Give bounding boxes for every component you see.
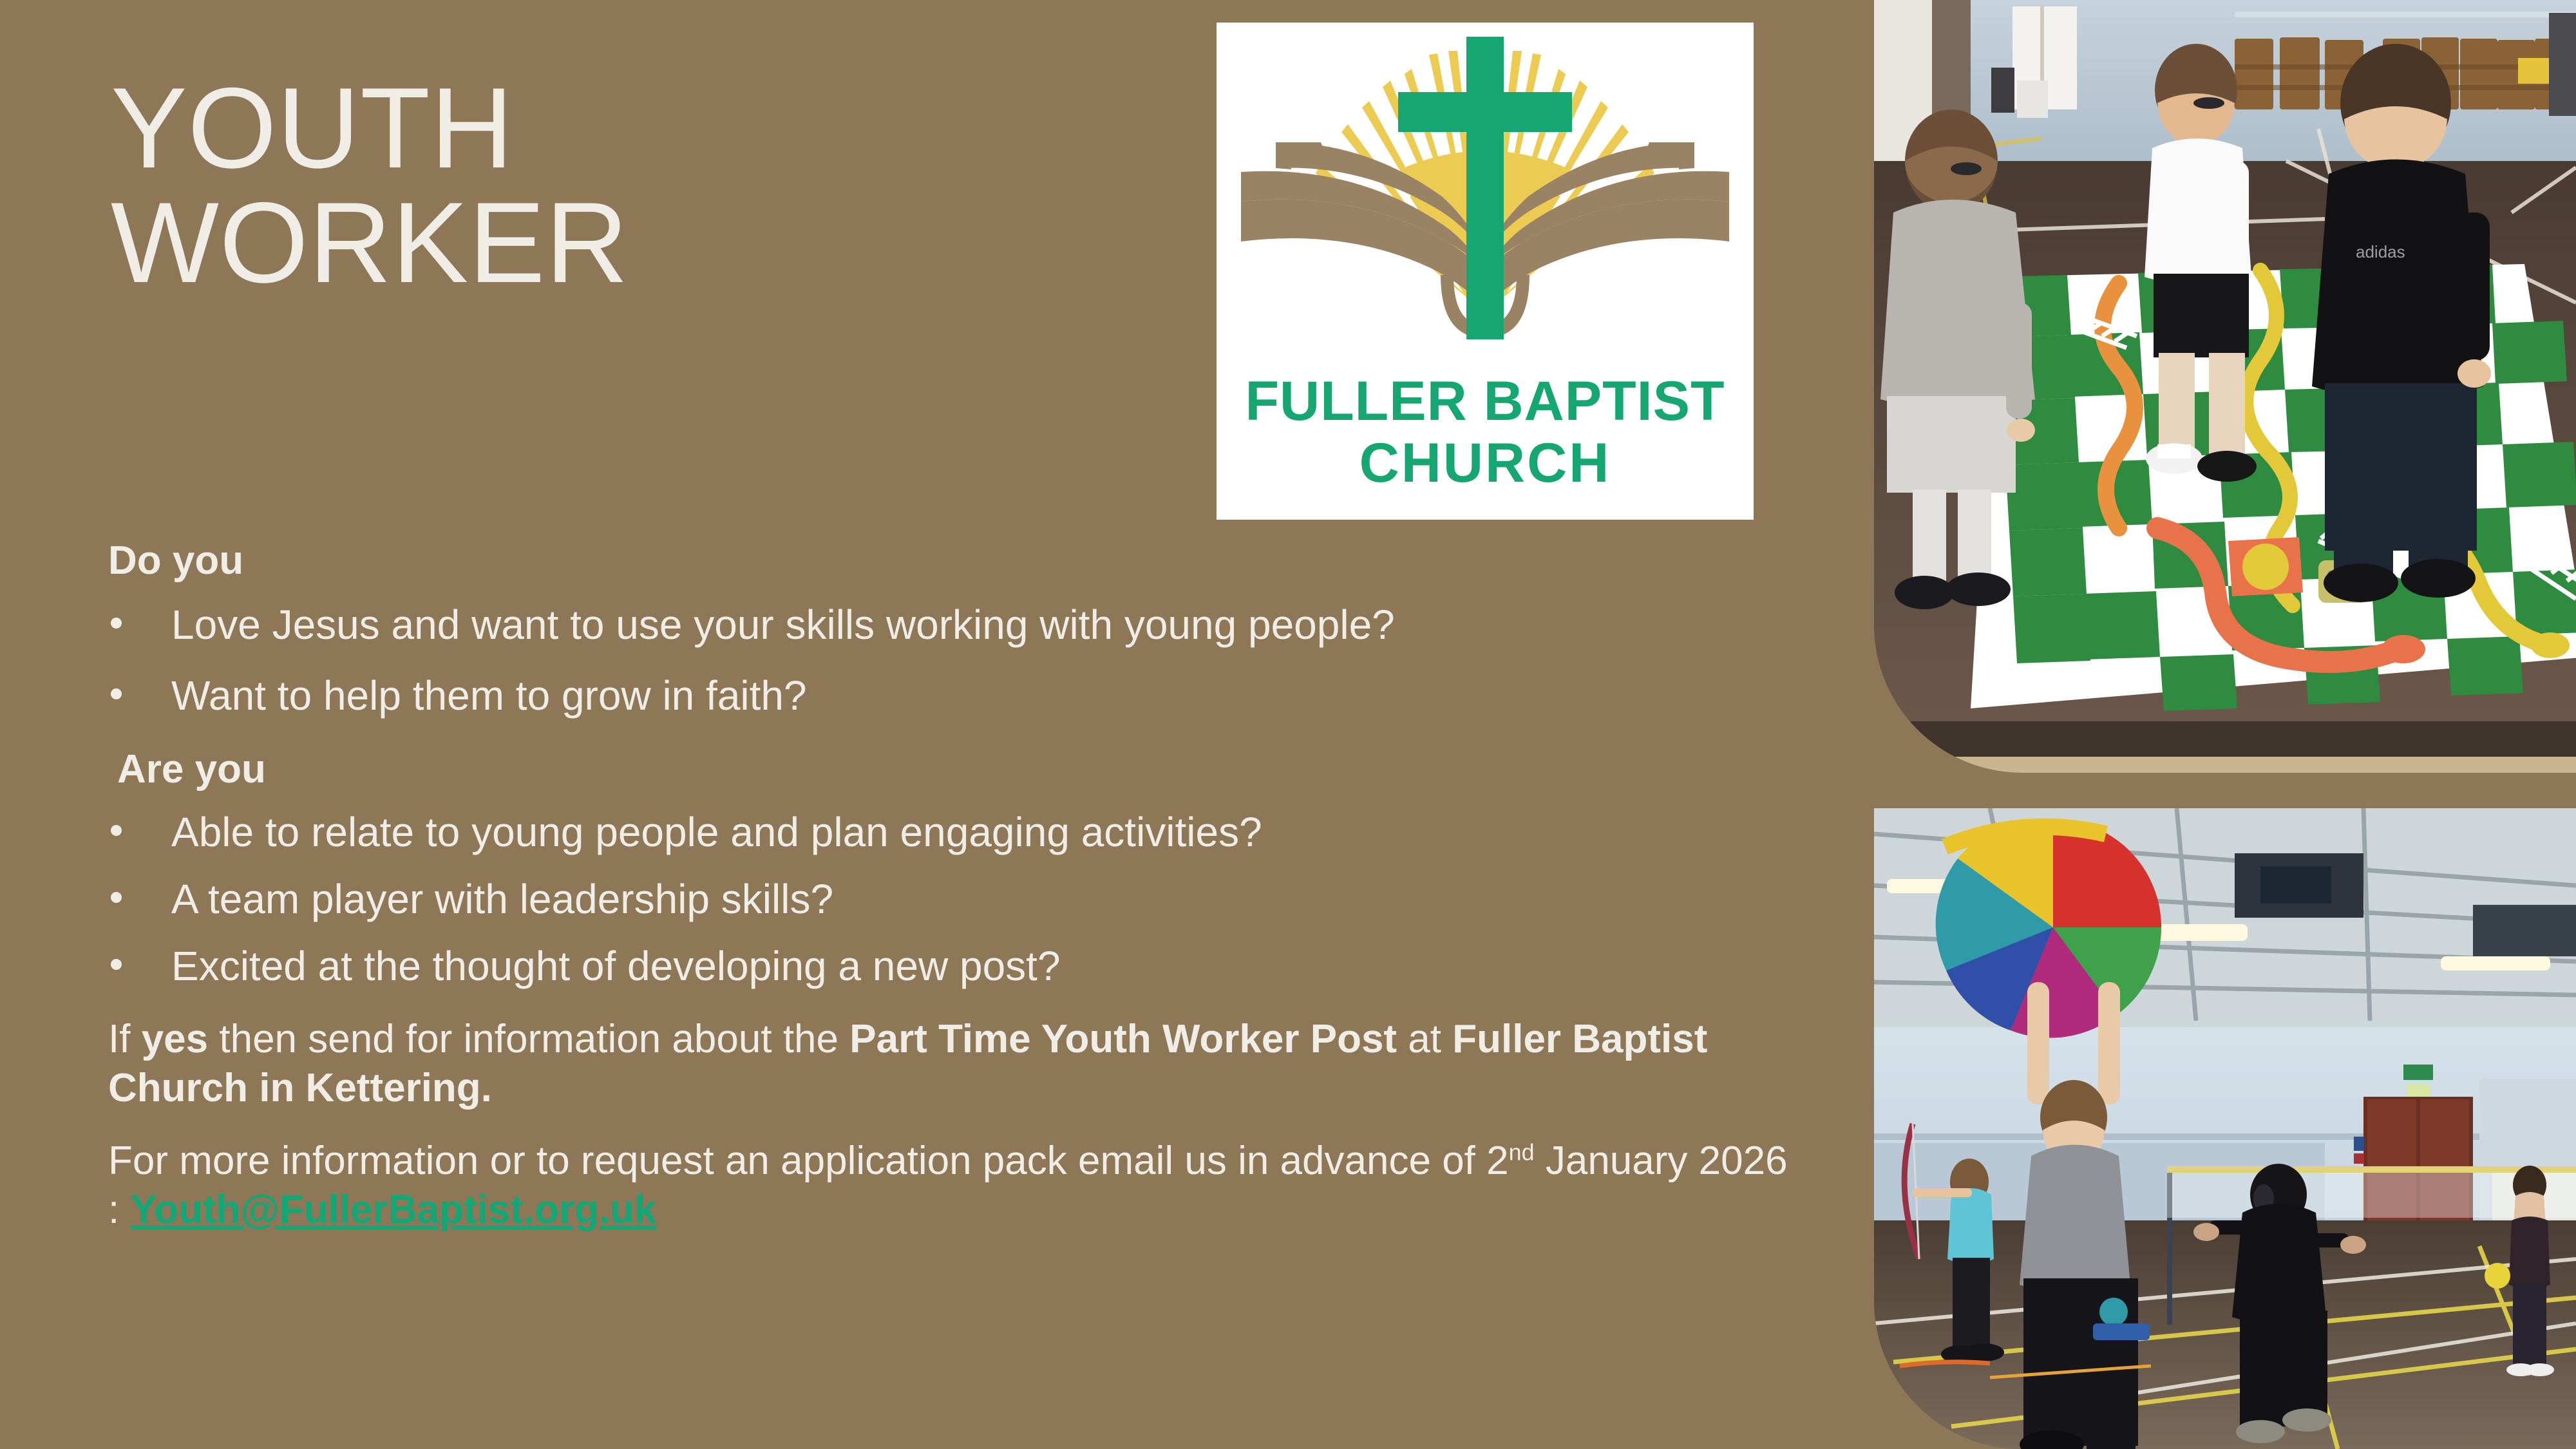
list-item: Able to relate to young people and plan …: [108, 811, 1802, 853]
bullet-dot-icon: [111, 688, 122, 699]
poster-root: YOUTH WORKER: [0, 0, 2576, 1449]
list-item: Excited at the thought of developing a n…: [108, 945, 1802, 987]
left-content-column: YOUTH WORKER: [0, 0, 1848, 1449]
bullet-dot-icon: [111, 959, 122, 970]
cta-text-3: at: [1397, 1017, 1452, 1061]
list-item-label: A team player with leadership skills?: [171, 876, 833, 922]
bullet-list-do-you: Love Jesus and want to use your skills w…: [108, 604, 1802, 716]
bullet-dot-icon: [111, 825, 122, 836]
bullet-dot-icon: [111, 618, 122, 629]
heading-do-you: Do you: [108, 541, 1802, 581]
list-item-label: Want to help them to grow in faith?: [171, 672, 807, 719]
svg-text:adidas: adidas: [2356, 242, 2405, 261]
email-link[interactable]: Youth@FullerBaptist.org.uk: [130, 1188, 656, 1232]
list-item-label: Love Jesus and want to use your skills w…: [171, 601, 1395, 648]
photo-giant-ball-game: [1874, 808, 2576, 1449]
logo-line-2: CHURCH: [1217, 432, 1754, 494]
list-item-label: Able to relate to young people and plan …: [171, 809, 1262, 855]
cta-emphasis-yes: yes: [142, 1017, 208, 1061]
list-item: Want to help them to grow in faith?: [108, 675, 1802, 716]
list-item-label: Excited at the thought of developing a n…: [171, 943, 1061, 989]
contact-text-1: For more information or to request an ap…: [108, 1139, 1509, 1183]
bullet-dot-icon: [111, 892, 122, 903]
heading-are-you: Are you: [108, 750, 1802, 790]
bullet-list-are-you: Able to relate to young people and plan …: [108, 811, 1802, 987]
photo-giant-snakes-and-ladders: adidas: [1874, 0, 2576, 773]
logo-wordmark: FULLER BAPTIST CHURCH: [1217, 370, 1754, 495]
cta-text-2: then send for information about the: [208, 1017, 849, 1061]
logo-line-1: FULLER BAPTIST: [1217, 370, 1754, 432]
contact-paragraph: For more information or to request an ap…: [108, 1137, 1802, 1234]
ordinal-suffix: nd: [1509, 1139, 1535, 1166]
cta-text-1: If: [108, 1017, 142, 1061]
church-logo-card: FULLER BAPTIST CHURCH: [1217, 23, 1754, 520]
body-content: Do you Love Jesus and want to use your s…: [108, 541, 1802, 1235]
cta-emphasis-post: Part Time Youth Worker Post: [849, 1017, 1397, 1061]
list-item: A team player with leadership skills?: [108, 878, 1802, 920]
list-item: Love Jesus and want to use your skills w…: [108, 604, 1802, 645]
cross-book-sunburst-icon: [1236, 35, 1734, 357]
page-title: YOUTH WORKER: [111, 71, 1141, 300]
call-to-action-paragraph: If yes then send for information about t…: [108, 1015, 1802, 1112]
